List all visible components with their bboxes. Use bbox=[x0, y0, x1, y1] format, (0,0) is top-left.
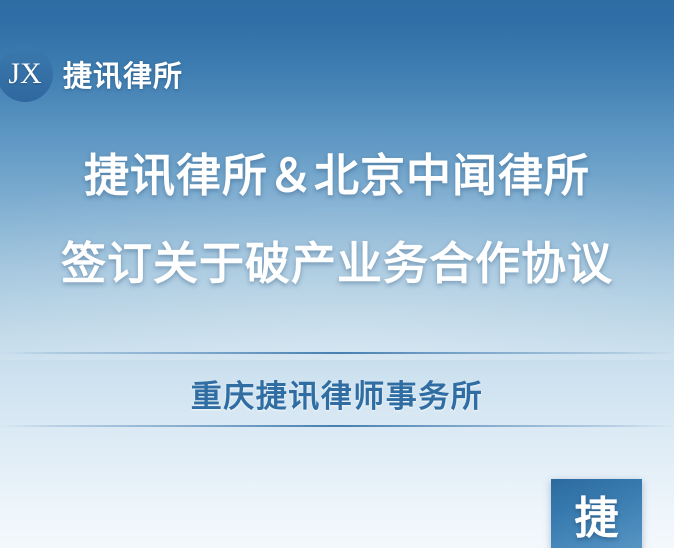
divider-top bbox=[0, 352, 674, 354]
subtitle-firm-name: 重庆捷讯律师事务所 bbox=[0, 371, 674, 416]
headline-block: 捷讯律所＆北京中闻律所 签订关于破产业务合作协议 bbox=[0, 140, 674, 300]
headline-line-1: 捷讯律所＆北京中闻律所 bbox=[0, 140, 674, 212]
brand-logo: JX 捷讯律所 bbox=[0, 46, 183, 102]
headline-line-2: 签订关于破产业务合作协议 bbox=[0, 228, 674, 300]
logo-wordmark: 捷讯律所 bbox=[63, 53, 183, 95]
corner-badge-text: 捷 bbox=[575, 497, 619, 541]
logo-monogram-text: JX bbox=[8, 59, 41, 89]
divider-bottom bbox=[0, 425, 674, 427]
jx-monogram-icon: JX bbox=[0, 46, 53, 102]
slide-canvas: JX 捷讯律所 捷讯律所＆北京中闻律所 签订关于破产业务合作协议 重庆捷讯律师事… bbox=[0, 0, 674, 548]
corner-badge: 捷 bbox=[551, 479, 642, 548]
